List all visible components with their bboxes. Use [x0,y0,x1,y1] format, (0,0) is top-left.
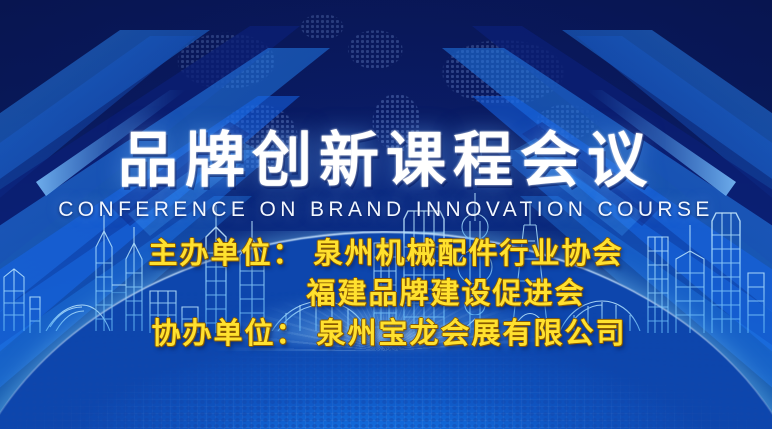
conference-poster: 品牌创新课程会议 CONFERENCE ON BRAND INNOVATION … [0,0,772,429]
organizer-line-co-host: 协办单位： 泉州宝龙会展有限公司 [0,314,772,354]
page-title: 品牌创新课程会议 [0,131,772,191]
page-subtitle: CONFERENCE ON BRAND INNOVATION COURSE [0,199,772,220]
organizer-line-host-secondary: 福建品牌建设促进会 [0,274,772,314]
organizer-list: 主办单位： 泉州机械配件行业协会 福建品牌建设促进会 协办单位： 泉州宝龙会展有… [0,234,772,354]
organizer-line-host: 主办单位： 泉州机械配件行业协会 [0,234,772,274]
poster-content: 品牌创新课程会议 CONFERENCE ON BRAND INNOVATION … [0,0,772,429]
